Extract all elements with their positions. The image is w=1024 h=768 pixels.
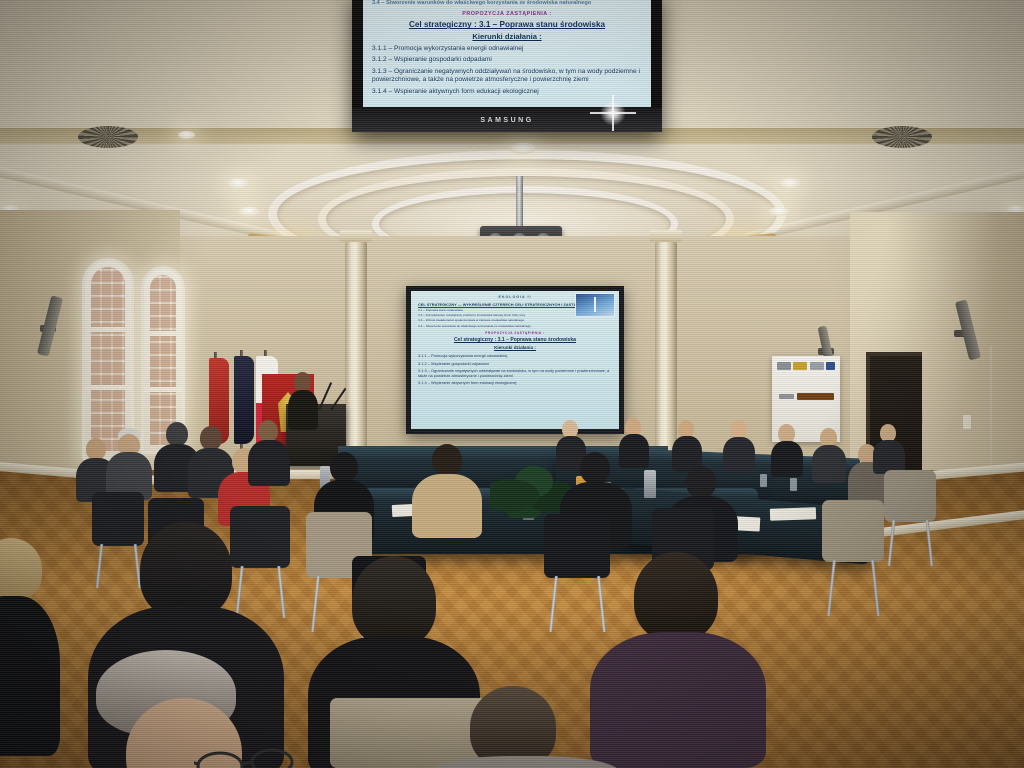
- tv-brand-label: SAMSUNG: [480, 117, 533, 124]
- window-glass: [91, 267, 125, 451]
- attendee-head: [200, 426, 222, 450]
- attendee-body: [723, 437, 755, 473]
- attendee-head: [330, 452, 358, 482]
- column-capital: [340, 230, 372, 242]
- downlight: [238, 207, 260, 216]
- downlight: [226, 178, 250, 189]
- tv-slide-content: 3.3 – Wzrost świadomości społeczeństwa w…: [363, 0, 651, 107]
- attendee-head: [140, 522, 232, 618]
- slide-proposal-label: PROPOZYCJA ZASTĄPIENIA :: [372, 11, 642, 18]
- slide-action-4: 3.1.4 – Wspieranie aktywnych form edukac…: [372, 88, 642, 97]
- attendee-body: [590, 632, 766, 768]
- attendee-head: [432, 444, 462, 476]
- wind-turbine-logo-icon: [575, 293, 615, 317]
- slide-directions-label: Kierunki działania :: [372, 32, 642, 42]
- slide-action-2: 3.1.2 – Wspieranie gospodarki odpadami: [372, 56, 642, 65]
- drinking-glass[interactable]: [790, 478, 797, 491]
- thermos[interactable]: [644, 470, 656, 498]
- slide-action-1: 3.1.1 – Promocja wykorzystania energii o…: [372, 45, 642, 54]
- attendee-body: [412, 474, 482, 538]
- attendee-body: [248, 440, 290, 486]
- potted-plant: [490, 462, 570, 518]
- slide-action-2: 3.1.2 – Wspieranie gospodarki odpadami: [418, 361, 612, 366]
- conference-room-photo: 3.3 – Wzrost świadomości społeczeństwa w…: [0, 0, 1024, 768]
- slide-directions-label: Kierunki działania :: [418, 345, 612, 351]
- vent-grille-icon: [872, 126, 932, 148]
- slide-action-3: 3.1.3 – Ograniczanie negatywnych oddział…: [418, 368, 612, 379]
- slide-goal-4: 3.4 – Stworzenie warunków do właściwego …: [372, 0, 642, 7]
- lens-flare-icon: [600, 100, 626, 126]
- attendee-head: [352, 556, 436, 646]
- tv-screen: 3.3 – Wzrost świadomości społeczeństwa w…: [363, 0, 651, 107]
- presenter-body: [288, 390, 318, 430]
- slide-proposal-label: PROPOZYCJA ZASTĄPIENIA :: [418, 331, 612, 335]
- attendee-head: [634, 552, 718, 640]
- window-transom: [144, 331, 182, 336]
- attendee-body: [812, 445, 846, 483]
- attendee-body: [771, 441, 803, 477]
- banner-headline-prefix: [779, 394, 794, 399]
- presenter-head: [294, 372, 311, 392]
- banner-eu-logo-icon: [826, 362, 835, 370]
- downlight: [768, 207, 790, 216]
- chair-back: [822, 500, 884, 562]
- projection-surface: EKOLOGIA II CEL STRATEGICZNY — WYKREŚLEN…: [411, 291, 619, 429]
- attendee-head: [686, 466, 716, 498]
- projection-screen: EKOLOGIA II CEL STRATEGICZNY — WYKREŚLEN…: [406, 286, 624, 434]
- banner-headline-main: [797, 393, 834, 400]
- wall-outlet[interactable]: [962, 414, 972, 430]
- papers[interactable]: [770, 507, 816, 521]
- navy-flag: [234, 356, 254, 444]
- attendee-body: [0, 596, 60, 756]
- chair-back: [544, 514, 610, 578]
- downlight: [178, 131, 195, 139]
- attendee-body: [619, 434, 649, 468]
- slide-strategic-goal: Cel strategiczny : 3.1 – Poprawa stanu ś…: [372, 20, 642, 31]
- chair-back: [230, 506, 290, 568]
- chair-back: [92, 492, 144, 546]
- slide-action-3: 3.1.3 – Ograniczanie negatywnych oddział…: [372, 68, 642, 86]
- banner-logo-icon: [810, 362, 824, 370]
- projected-slide-content: EKOLOGIA II CEL STRATEGICZNY — WYKREŚLEN…: [411, 291, 619, 429]
- slide-action-4: 3.1.4 – Wspieranie aktywnych form edukac…: [418, 380, 612, 385]
- chair-back: [884, 470, 936, 522]
- banner-logo-icon: [793, 362, 807, 370]
- column-capital: [650, 230, 682, 242]
- projector-mount: [516, 176, 523, 230]
- slide-action-1: 3.1.1 – Promocja wykorzystania energii o…: [418, 353, 612, 358]
- slide-goal-4: 3.4 – Stworzenie warunków do właściwego …: [418, 324, 612, 328]
- banner-headline: [779, 392, 834, 400]
- slide-goal-3: 3.3 – Wzrost świadomości społeczeństwa w…: [418, 318, 612, 322]
- window-transom: [85, 327, 131, 332]
- wall-mounted-tv[interactable]: 3.3 – Wzrost świadomości społeczeństwa w…: [352, 0, 662, 132]
- window-transom: [85, 385, 131, 390]
- downlight: [778, 178, 802, 189]
- attendee-head: [580, 452, 610, 484]
- vent-grille-icon: [78, 126, 138, 148]
- window-glass: [150, 275, 176, 445]
- attendee-head: [258, 420, 278, 442]
- attendee-head: [166, 422, 188, 446]
- attendee-head: [86, 438, 106, 460]
- attendee-body: [873, 440, 905, 474]
- slide-strategic-goal: Cel strategiczny : 3.1 – Poprawa stanu ś…: [418, 337, 612, 344]
- banner-logo-row: [777, 361, 835, 370]
- banner-logo-icon: [777, 362, 791, 370]
- window-transom: [144, 387, 182, 392]
- downlight: [510, 143, 536, 154]
- eyeglasses-icon: [194, 742, 294, 768]
- drinking-glass[interactable]: [760, 474, 767, 487]
